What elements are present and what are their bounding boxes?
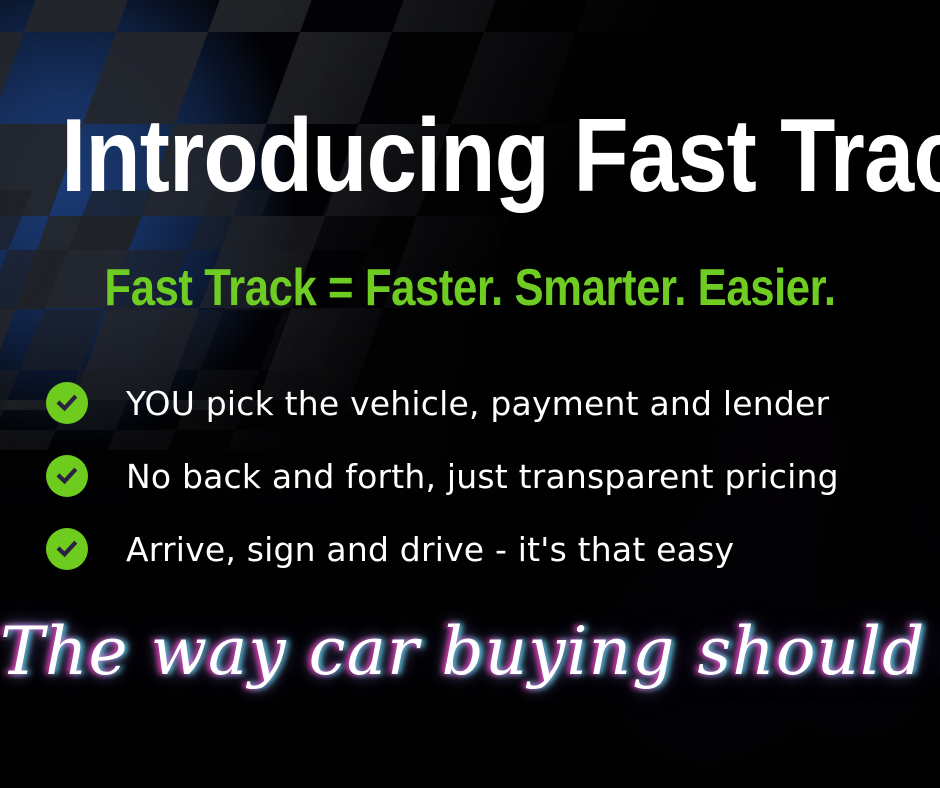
- poster-content: Introducing Fast Track Fast Track = Fast…: [0, 0, 940, 788]
- list-item: Arrive, sign and drive - it's that easy: [46, 520, 906, 578]
- list-item-label: No back and forth, just transparent pric…: [126, 460, 839, 493]
- check-circle-icon: [46, 455, 88, 497]
- fast-track-promo-poster: Introducing Fast Track Fast Track = Fast…: [0, 0, 940, 788]
- page-title: Introducing Fast Track: [61, 104, 879, 208]
- check-circle-icon: [46, 528, 88, 570]
- list-item-label: Arrive, sign and drive - it's that easy: [126, 533, 734, 566]
- tagline-script-text: The way car buying should be.: [0, 614, 940, 690]
- list-item-label: YOU pick the vehicle, payment and lender: [126, 387, 829, 420]
- page-subtitle: Fast Track = Faster. Smarter. Easier.: [75, 262, 865, 314]
- list-item: No back and forth, just transparent pric…: [46, 447, 906, 505]
- list-item: YOU pick the vehicle, payment and lender: [46, 374, 906, 432]
- check-circle-icon: [46, 382, 88, 424]
- benefits-list: YOU pick the vehicle, payment and lender…: [46, 374, 906, 593]
